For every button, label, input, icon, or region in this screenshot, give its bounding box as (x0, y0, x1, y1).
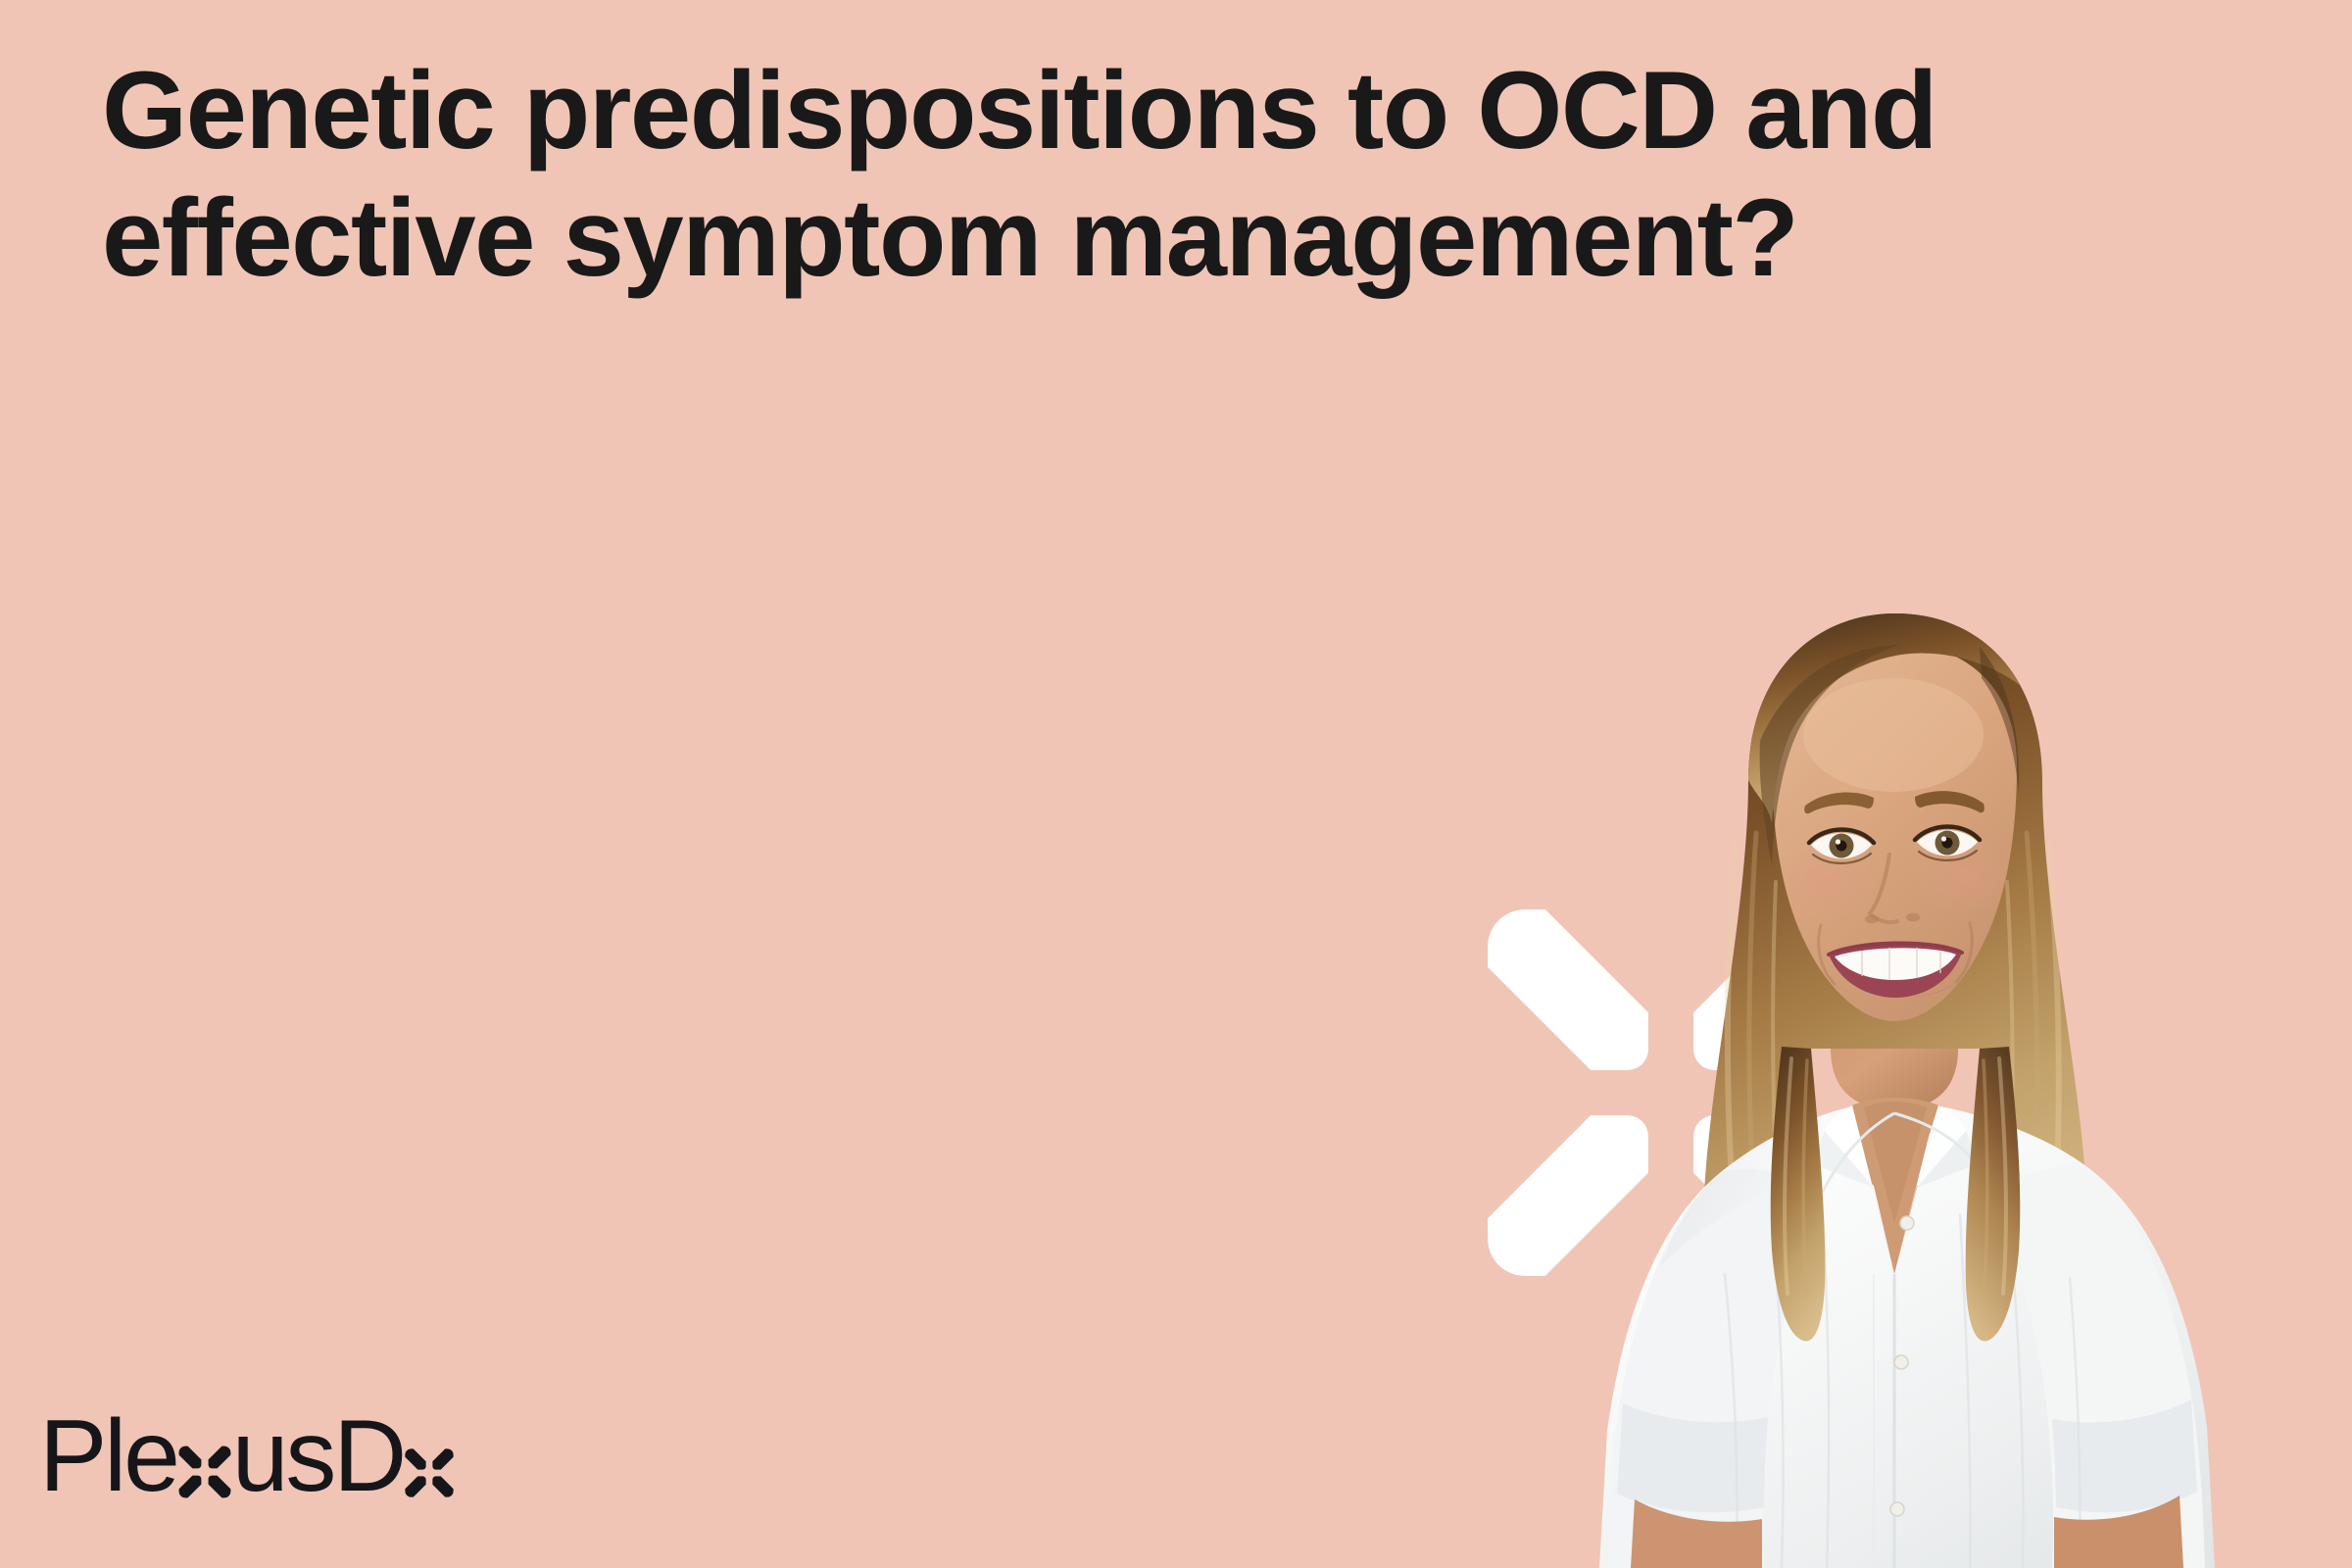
social-card: Genetic predispositions to OCD and effec… (0, 0, 2352, 1568)
logo-text-ple: Ple (39, 1405, 177, 1507)
logo-split-x-icon-1 (175, 1443, 234, 1501)
plexusdx-split-x-mark-icon (1465, 887, 1877, 1298)
logo-text-usd: usD (232, 1405, 404, 1507)
logo-split-x-icon-2 (402, 1445, 457, 1500)
page-title: Genetic predispositions to OCD and effec… (102, 47, 2199, 302)
plexusdx-logo[interactable]: Ple usD (39, 1390, 455, 1507)
